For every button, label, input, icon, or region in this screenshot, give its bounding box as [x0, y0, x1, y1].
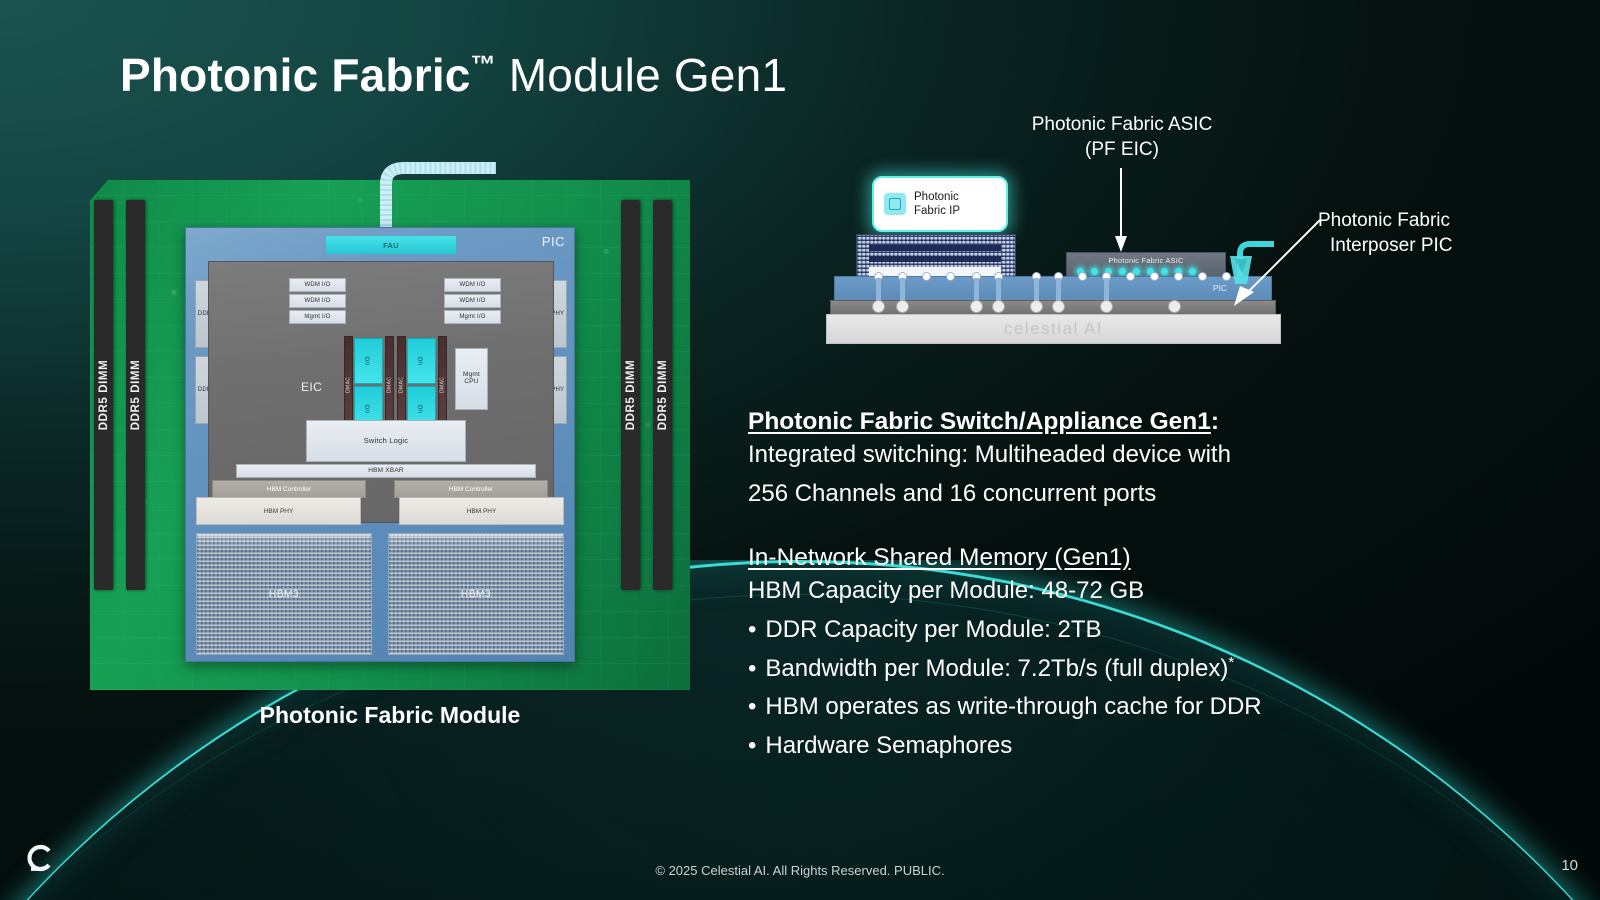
eic-label: EIC: [301, 380, 322, 394]
page-title-rest: Module Gen1: [496, 49, 787, 101]
bullet-marker: •: [748, 727, 756, 766]
copyright-text: © 2025 Celestial AI. All Rights Reserved…: [0, 863, 1600, 878]
interposer-annotation-line1: Photonic Fabric: [1318, 210, 1450, 231]
mgmt-io-block: Mgmt I/O: [444, 310, 501, 324]
dimm-slot: DDR5 DIMM: [94, 200, 113, 590]
celestial-ai-watermark: celestial AI: [1004, 319, 1103, 339]
photonic-fabric-module-diagram: DDR5 DIMM DDR5 DIMM DDR5 DIMM DDR5 DIMM …: [70, 180, 710, 690]
asic-annotation-label: Photonic Fabric ASIC (PF EIC): [1012, 112, 1232, 162]
bullet-marker: •: [748, 688, 756, 727]
hbm-capacity-line: HBM Capacity per Module: 48-72 GB: [748, 572, 1448, 611]
dimm-label: DDR5 DIMM: [657, 360, 669, 431]
switch-logic-block: Switch Logic: [306, 420, 466, 462]
switch-appliance-line1: Integrated switching: Multiheaded device…: [748, 436, 1448, 475]
module-caption: Photonic Fabric Module: [70, 702, 710, 729]
shared-memory-heading: In-Network Shared Memory (Gen1): [748, 544, 1448, 572]
switch-appliance-line2: 256 Channels and 16 concurrent ports: [748, 475, 1448, 514]
asic-annotation-arrow-icon: [1100, 168, 1160, 258]
interposer-annotation-label: Photonic Fabric Interposer PIC: [1318, 208, 1548, 258]
bullet-marker: •: [748, 611, 756, 650]
wdm-io-block: WDM I/O: [444, 294, 501, 308]
package-cross-section-diagram: Photonic Fabric IP Photonic Fabric ASIC …: [826, 172, 1296, 357]
spec-bullet-text: Hardware Semaphores: [765, 727, 1012, 766]
photonic-fabric-ip-label: Photonic Fabric IP: [914, 190, 960, 219]
fiber-optic-cable-icon: [346, 132, 526, 242]
page-number: 10: [1561, 857, 1578, 874]
switch-appliance-heading-suffix: :: [1211, 408, 1219, 435]
fau-block: FAU: [326, 236, 456, 254]
wdm-io-block: WDM I/O: [289, 294, 346, 308]
spec-bullet: • Hardware Semaphores: [748, 727, 1448, 766]
spec-bullet-label: DDR Capacity per Module: 2TB: [765, 616, 1101, 643]
spec-bullet-label: HBM operates as write-through cache for …: [765, 693, 1261, 720]
spec-bullet-label: Hardware Semaphores: [765, 732, 1012, 759]
wdm-io-block: WDM I/O: [444, 278, 501, 292]
spec-bullet-text: DDR Capacity per Module: 2TB: [765, 611, 1101, 650]
photonic-fabric-ip-callout: Photonic Fabric IP: [872, 176, 1008, 232]
slide-root: Photonic Fabric™ Module Gen1 DDR5 DIMM D…: [0, 0, 1600, 900]
dimm-label: DDR5 DIMM: [625, 360, 637, 431]
pic-label: PIC: [542, 234, 565, 249]
mgmt-io-block: Mgmt I/O: [289, 310, 346, 324]
wdm-io-block: WDM I/O: [289, 278, 346, 292]
dimm-slot: DDR5 DIMM: [126, 200, 145, 590]
spec-bullet: • HBM operates as write-through cache fo…: [748, 688, 1448, 727]
spec-bullet-text: HBM operates as write-through cache for …: [765, 688, 1261, 727]
hbm-xbar-block: HBM XBAR: [236, 464, 536, 478]
mgmt-cpu-block: Mgmt CPU: [455, 348, 488, 410]
spec-bullet-text: Bandwidth per Module: 7.2Tb/s (full dupl…: [765, 650, 1234, 689]
page-title-bold: Photonic Fabric: [120, 49, 471, 101]
dimm-label: DDR5 DIMM: [98, 360, 110, 431]
pcb-board-cross-section: celestial AI: [826, 314, 1281, 344]
interposer-annotation-line2: Interposer PIC: [1318, 233, 1453, 258]
hbm-phy-block: HBM PHY: [196, 497, 361, 525]
io-block: I/O: [407, 338, 436, 384]
ip-label-line1: Photonic: [914, 191, 959, 203]
asic-annotation-line1: Photonic Fabric ASIC: [1032, 114, 1213, 135]
dimm-slot: DDR5 DIMM: [653, 200, 672, 590]
switch-appliance-heading-text: Photonic Fabric Switch/Appliance Gen1: [748, 408, 1211, 435]
spec-bullet: • DDR Capacity per Module: 2TB: [748, 611, 1448, 650]
spec-bullet-sup: *: [1228, 654, 1234, 671]
interposer-annotation-arrow-icon: [1228, 216, 1328, 316]
page-title: Photonic Fabric™ Module Gen1: [120, 48, 787, 102]
asic-annotation-line2: (PF EIC): [1085, 139, 1159, 160]
hbm-phy-block: HBM PHY: [399, 497, 564, 525]
specs-text-block: Photonic Fabric Switch/Appliance Gen1: I…: [748, 408, 1448, 766]
hbm3-stack: HBM3: [196, 533, 372, 655]
dimm-slot: DDR5 DIMM: [621, 200, 640, 590]
io-block: I/O: [354, 338, 383, 384]
hbm-controller-block: HBM Controller: [212, 480, 366, 498]
spec-bullet: • Bandwidth per Module: 7.2Tb/s (full du…: [748, 650, 1448, 689]
bullet-marker: •: [748, 650, 756, 689]
ip-label-line2: Fabric IP: [914, 205, 960, 217]
dimm-label: DDR5 DIMM: [130, 360, 142, 431]
trademark-symbol: ™: [471, 51, 496, 79]
spec-bullet-label: Bandwidth per Module: 7.2Tb/s (full dupl…: [765, 655, 1228, 682]
hbm3-stack: HBM3: [388, 533, 564, 655]
hbm-controller-block: HBM Controller: [394, 480, 548, 498]
chip-icon: [884, 193, 906, 215]
switch-appliance-heading: Photonic Fabric Switch/Appliance Gen1:: [748, 408, 1448, 436]
pic-substrate: PIC FAU DDR PHY DDR Ctrl DDR PHY DDR Ctr…: [185, 227, 575, 662]
